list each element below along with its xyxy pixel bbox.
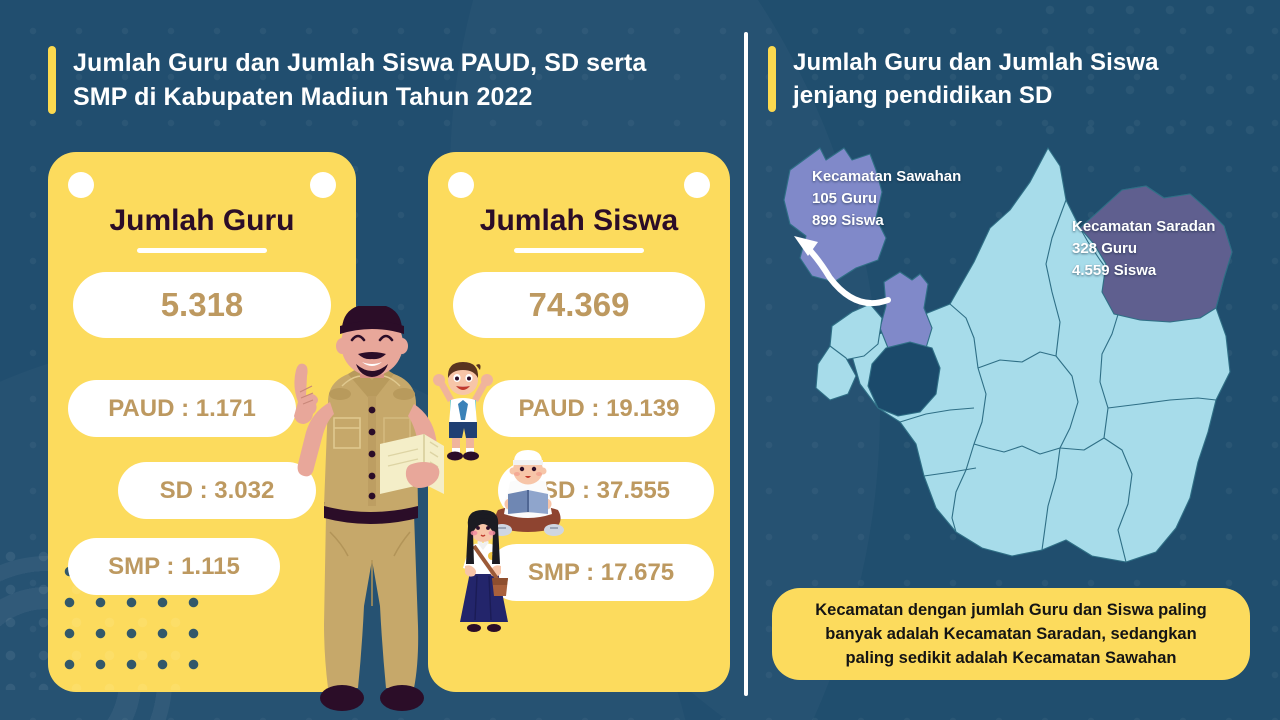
siswa-total-value: 74.369 bbox=[453, 272, 705, 338]
punch-hole-left-icon bbox=[68, 172, 94, 198]
card-title-jumlah-guru: Jumlah Guru bbox=[48, 204, 356, 238]
infographic-canvas: Jumlah Guru dan Jumlah Siswa PAUD, SD se… bbox=[0, 0, 1280, 720]
punch-hole-right-icon bbox=[684, 172, 710, 198]
card-title-jumlah-siswa: Jumlah Siswa bbox=[428, 204, 730, 238]
punch-hole-left-icon bbox=[448, 172, 474, 198]
card-title-underline bbox=[514, 248, 644, 253]
siswa-paud-value: PAUD : 19.139 bbox=[483, 380, 715, 437]
right-title-text: Jumlah Guru dan Jumlah Siswa jenjang pen… bbox=[793, 46, 1159, 112]
background-dot-cluster-bottom-left bbox=[0, 540, 184, 690]
map-caption-box: Kecamatan dengan jumlah Guru dan Siswa p… bbox=[772, 588, 1250, 680]
vertical-divider bbox=[744, 32, 748, 696]
map-label-saradan: Kecamatan Saradan 328 Guru 4.559 Siswa bbox=[1072, 216, 1215, 282]
student-smp-illustration bbox=[444, 506, 522, 638]
left-title-accent-bar bbox=[48, 46, 56, 114]
punch-hole-right-icon bbox=[310, 172, 336, 198]
left-title-text: Jumlah Guru dan Jumlah Siswa PAUD, SD se… bbox=[73, 46, 646, 114]
left-title-block: Jumlah Guru dan Jumlah Siswa PAUD, SD se… bbox=[48, 46, 646, 114]
map-label-sawahan: Kecamatan Sawahan 105 Guru 899 Siswa bbox=[812, 166, 961, 232]
card-title-underline bbox=[137, 248, 267, 253]
guru-paud-value: PAUD : 1.171 bbox=[68, 380, 296, 437]
right-title-block: Jumlah Guru dan Jumlah Siswa jenjang pen… bbox=[768, 46, 1159, 112]
right-title-accent-bar bbox=[768, 46, 776, 112]
map-kabupaten-madiun: Kecamatan Sawahan 105 Guru 899 Siswa Kec… bbox=[760, 132, 1264, 580]
